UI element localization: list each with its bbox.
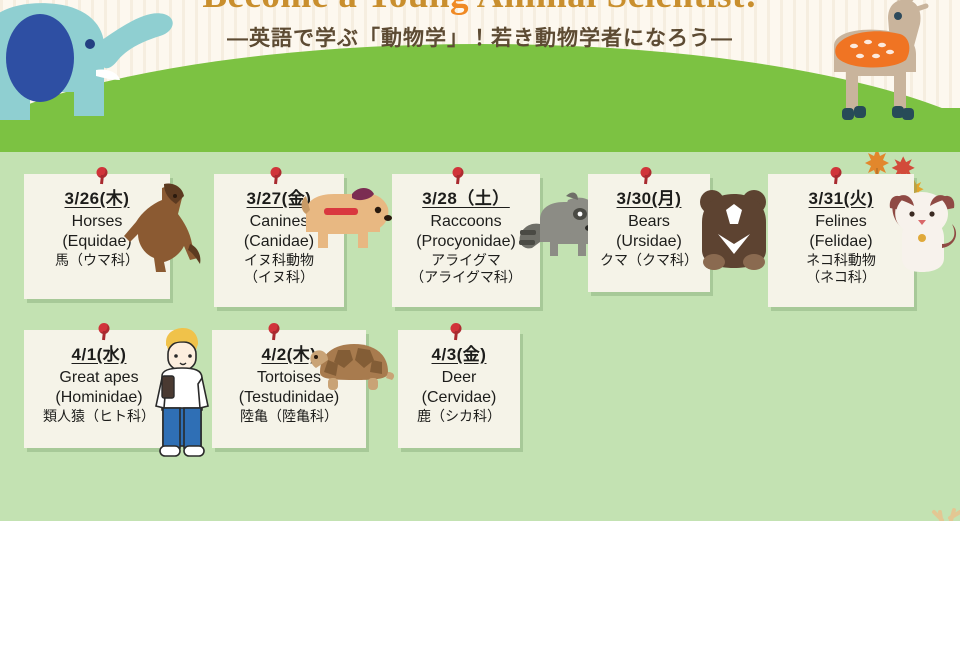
pushpin-icon	[99, 323, 110, 339]
pushpin-icon	[451, 323, 462, 339]
card-canines[interactable]: 3/27(金) Canines (Canidae) イヌ科動物 （イヌ科）	[214, 174, 344, 307]
card-en-name: Canines	[214, 212, 344, 232]
card-en-family: (Equidae)	[24, 232, 170, 252]
pushpin-icon	[269, 323, 280, 339]
card-raccoons[interactable]: 3/28（土） Raccoons (Procyonidae) アライグマ （アラ…	[392, 174, 540, 307]
card-great-apes[interactable]: 4/1(水) Great apes (Hominidae) 類人猿（ヒト科）	[24, 330, 174, 448]
deer-icon	[814, 0, 954, 140]
card-date: 3/31(火)	[809, 184, 874, 209]
card-jp-name: アライグマ	[392, 252, 540, 270]
pushpin-icon	[831, 167, 842, 183]
pushpin-icon	[641, 167, 652, 183]
card-en-name: Raccoons	[392, 212, 540, 232]
card-en-name: Tortoises	[212, 368, 366, 388]
header-banner: Become a Young Animal Scientist! —英語で学ぶ「…	[0, 0, 960, 152]
card-date: 3/30(月)	[617, 184, 682, 209]
card-en-family: (Felidae)	[768, 232, 914, 252]
page-title: Become a Young Animal Scientist!	[0, 0, 960, 17]
card-en-name: Bears	[588, 212, 710, 232]
card-jp-family: （ネコ科）	[768, 269, 914, 287]
card-en-family: (Cervidae)	[398, 388, 520, 408]
card-jp-name: 陸亀（陸亀科）	[212, 408, 366, 426]
card-jp-name: イヌ科動物	[214, 252, 344, 270]
card-tortoises[interactable]: 4/2(木) Tortoises (Testudinidae) 陸亀（陸亀科）	[212, 330, 366, 448]
card-en-name: Great apes	[24, 368, 174, 388]
card-en-family: (Procyonidae)	[392, 232, 540, 252]
card-jp-family: （アライグマ科）	[392, 269, 540, 287]
card-jp-name: クマ（クマ科）	[588, 252, 710, 270]
card-date: 3/26(木)	[65, 184, 130, 209]
card-en-family: (Canidae)	[214, 232, 344, 252]
card-date: 3/28（土）	[422, 184, 510, 209]
card-date: 4/1(水)	[72, 340, 127, 365]
pushpin-icon	[271, 167, 282, 183]
card-jp-name: 類人猿（ヒト科）	[24, 408, 174, 426]
card-en-family: (Testudinidae)	[212, 388, 366, 408]
card-jp-name: 馬（ウマ科）	[24, 252, 170, 270]
card-jp-name: ネコ科動物	[768, 252, 914, 270]
card-date: 3/27(金)	[247, 184, 312, 209]
card-en-name: Felines	[768, 212, 914, 232]
card-jp-family: （イヌ科）	[214, 269, 344, 287]
pushpin-icon	[453, 167, 464, 183]
page-subtitle: —英語で学ぶ「動物学」！若き動物学者になろう—	[0, 22, 960, 52]
card-date: 4/3(金)	[432, 340, 487, 365]
deer-card-icon	[884, 506, 960, 521]
card-horses[interactable]: 3/26(木) Horses (Equidae) 馬（ウマ科）	[24, 174, 170, 299]
card-date: 4/2(木)	[262, 340, 317, 365]
card-felines[interactable]: 3/31(火) Felines (Felidae) ネコ科動物 （ネコ科）	[768, 174, 914, 307]
card-deer[interactable]: 4/3(金) Deer (Cervidae) 鹿（シカ科） 4/4(土) Bad…	[398, 330, 520, 448]
card-en-name: Deer	[398, 368, 520, 388]
card-bears[interactable]: 3/30(月) Bears (Ursidae) クマ（クマ科）	[588, 174, 710, 292]
card-jp-name: 鹿（シカ科）	[398, 408, 520, 426]
card-en-name: Horses	[24, 212, 170, 232]
schedule-cards-area: 3/26(木) Horses (Equidae) 馬（ウマ科） 3/27(金) …	[0, 152, 960, 521]
card-en-family: (Hominidae)	[24, 388, 174, 408]
card-en-family: (Ursidae)	[588, 232, 710, 252]
pushpin-icon	[97, 167, 108, 183]
